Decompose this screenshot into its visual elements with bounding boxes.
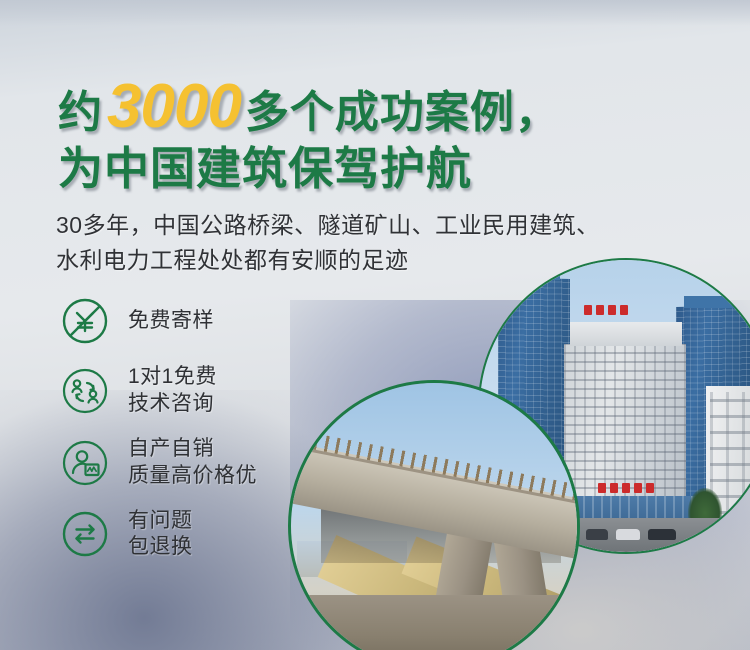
- headline: 约3000多个成功案例， 为中国建筑保驾护航: [58, 76, 718, 191]
- center-building-crown: [570, 322, 682, 346]
- headline-number: 3000: [103, 72, 245, 141]
- headline-line-1: 约3000多个成功案例，: [58, 76, 718, 138]
- self-produce-sell-icon: [60, 438, 110, 488]
- one-on-one-consult-icon: [60, 366, 110, 416]
- feature-label: 自产自销 质量高价格优: [128, 436, 257, 490]
- headline-suffix: 多个成功案例，: [245, 88, 560, 137]
- concrete-bridge-viaduct-photo: [288, 380, 580, 650]
- background-top-haze: [0, 0, 750, 26]
- tower-right-cap: [684, 296, 738, 308]
- feature-label: 有问题 包退换: [128, 508, 193, 562]
- bridge-scene: [291, 383, 577, 650]
- feature-item-return-exchange: 有问题 包退换: [60, 508, 257, 562]
- return-exchange-icon: [60, 509, 110, 559]
- headline-prefix: 约: [58, 88, 103, 137]
- promotional-banner: 约3000多个成功案例， 为中国建筑保驾护航 30多年，中国公路桥梁、隧道矿山、…: [0, 0, 750, 650]
- tower-left-cap: [508, 266, 560, 280]
- feature-label: 1对1免费 技术咨询: [128, 364, 217, 418]
- headline-line-2: 为中国建筑保驾护航: [58, 146, 718, 191]
- feature-item-free-sample: 免费寄样: [60, 296, 257, 346]
- ground-surface: [291, 595, 577, 650]
- feature-list: 免费寄样 1对1免费 技术咨询: [60, 296, 257, 579]
- feature-item-one-on-one-consult: 1对1免费 技术咨询: [60, 364, 257, 418]
- feature-label: 免费寄样: [128, 308, 214, 335]
- parked-car: [586, 529, 608, 540]
- parked-car: [616, 529, 640, 540]
- headline-line-2-text: 为中国建筑保驾护航: [58, 143, 472, 194]
- parked-car: [648, 529, 676, 540]
- feature-item-self-produce-sell: 自产自销 质量高价格优: [60, 436, 257, 490]
- entrance-red-signage: [598, 482, 654, 493]
- free-shipping-yen-icon: [60, 296, 110, 346]
- rooftop-red-signage: [584, 304, 628, 315]
- subtitle-line-1: 30多年，中国公路桥梁、隧道矿山、工业民用建筑、: [56, 208, 716, 243]
